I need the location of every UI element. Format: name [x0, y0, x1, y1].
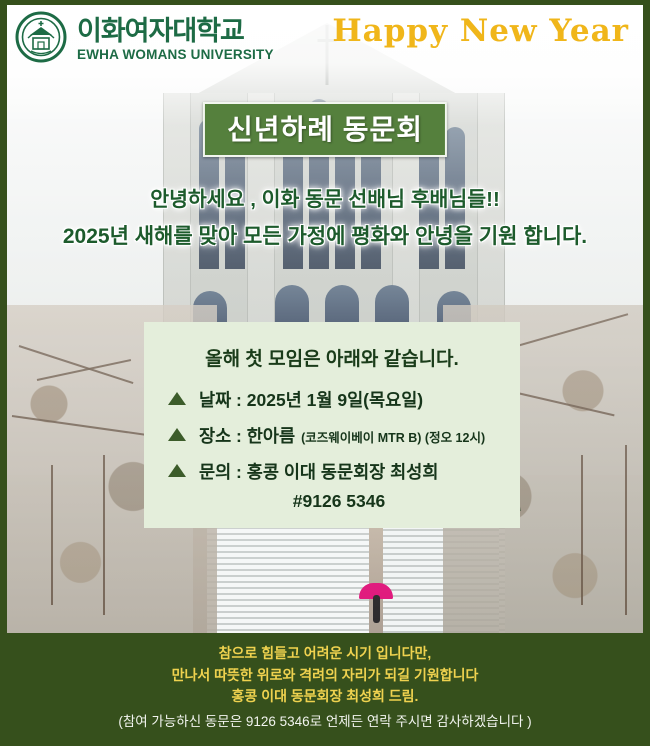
- university-name-english: EWHA WOMANS UNIVERSITY: [77, 48, 274, 62]
- details-heading: 올해 첫 모임은 아래와 같습니다.: [144, 344, 520, 371]
- detail-row-date: 날짜 : 2025년 1월 9일(목요일): [144, 387, 520, 412]
- event-details-box: 올해 첫 모임은 아래와 같습니다. 날짜 : 2025년 1월 9일(목요일)…: [144, 322, 520, 528]
- footer-line-2: 만나서 따뜻한 위로와 격려의 자리가 되길 기원합니다: [7, 665, 643, 687]
- detail-phone: #9126 5346: [144, 491, 520, 512]
- detail-row-place: 장소 : 한아름 (코즈웨이베이 MTR B) (정오 12시): [144, 423, 520, 448]
- greeting-block: 안녕하세요 , 이화 동문 선배님 후배님들!! 2025년 새해를 맞아 모든…: [7, 185, 643, 252]
- greeting-line-2: 2025년 새해를 맞아 모든 가정에 평화와 안녕을 기원 합니다.: [7, 221, 643, 253]
- triangle-bullet-icon: [168, 392, 186, 405]
- detail-date: 날짜 : 2025년 1월 9일(목요일): [199, 387, 423, 412]
- university-name-block: 이화여자대학교 EWHA WOMANS UNIVERSITY: [77, 18, 274, 62]
- detail-row-contact: 문의 : 홍콩 이대 동문회장 최성희: [144, 459, 520, 484]
- footer-line-3: 홍콩 이대 동문회장 최성희 드림.: [7, 686, 643, 708]
- campus-photo: [7, 5, 643, 633]
- detail-contact: 문의 : 홍콩 이대 동문회장 최성희: [199, 459, 438, 484]
- triangle-bullet-icon: [168, 464, 186, 477]
- university-name-korean: 이화여자대학교: [77, 18, 274, 45]
- greeting-line-1: 안녕하세요 , 이화 동문 선배님 후배님들!!: [7, 185, 643, 216]
- happy-new-year-text: Happy New Year: [332, 13, 629, 49]
- footer-line-1: 참으로 힘들고 어려운 시기 입니다만,: [7, 643, 643, 665]
- person-walking: [373, 595, 380, 623]
- new-year-poster: 이화여자대학교 EWHA WOMANS UNIVERSITY Happy New…: [0, 0, 650, 746]
- footer-line-4: (참여 가능하신 동문은 9126 5346로 언제든 연락 주시면 감사하겠습…: [7, 712, 643, 733]
- university-branding: 이화여자대학교 EWHA WOMANS UNIVERSITY: [15, 11, 274, 68]
- ewha-seal-icon: [15, 11, 67, 68]
- detail-place-sub: (코즈웨이베이 MTR B) (정오 12시): [301, 427, 485, 446]
- triangle-bullet-icon: [168, 428, 186, 441]
- poster-header: 이화여자대학교 EWHA WOMANS UNIVERSITY Happy New…: [7, 5, 643, 67]
- event-title-banner: 신년하례 동문회: [203, 102, 447, 157]
- poster-footer: 참으로 힘들고 어려운 시기 입니다만, 만나서 따뜻한 위로와 격려의 자리가…: [7, 633, 643, 746]
- detail-place: 장소 : 한아름: [199, 423, 295, 448]
- event-title: 신년하례 동문회: [227, 108, 423, 148]
